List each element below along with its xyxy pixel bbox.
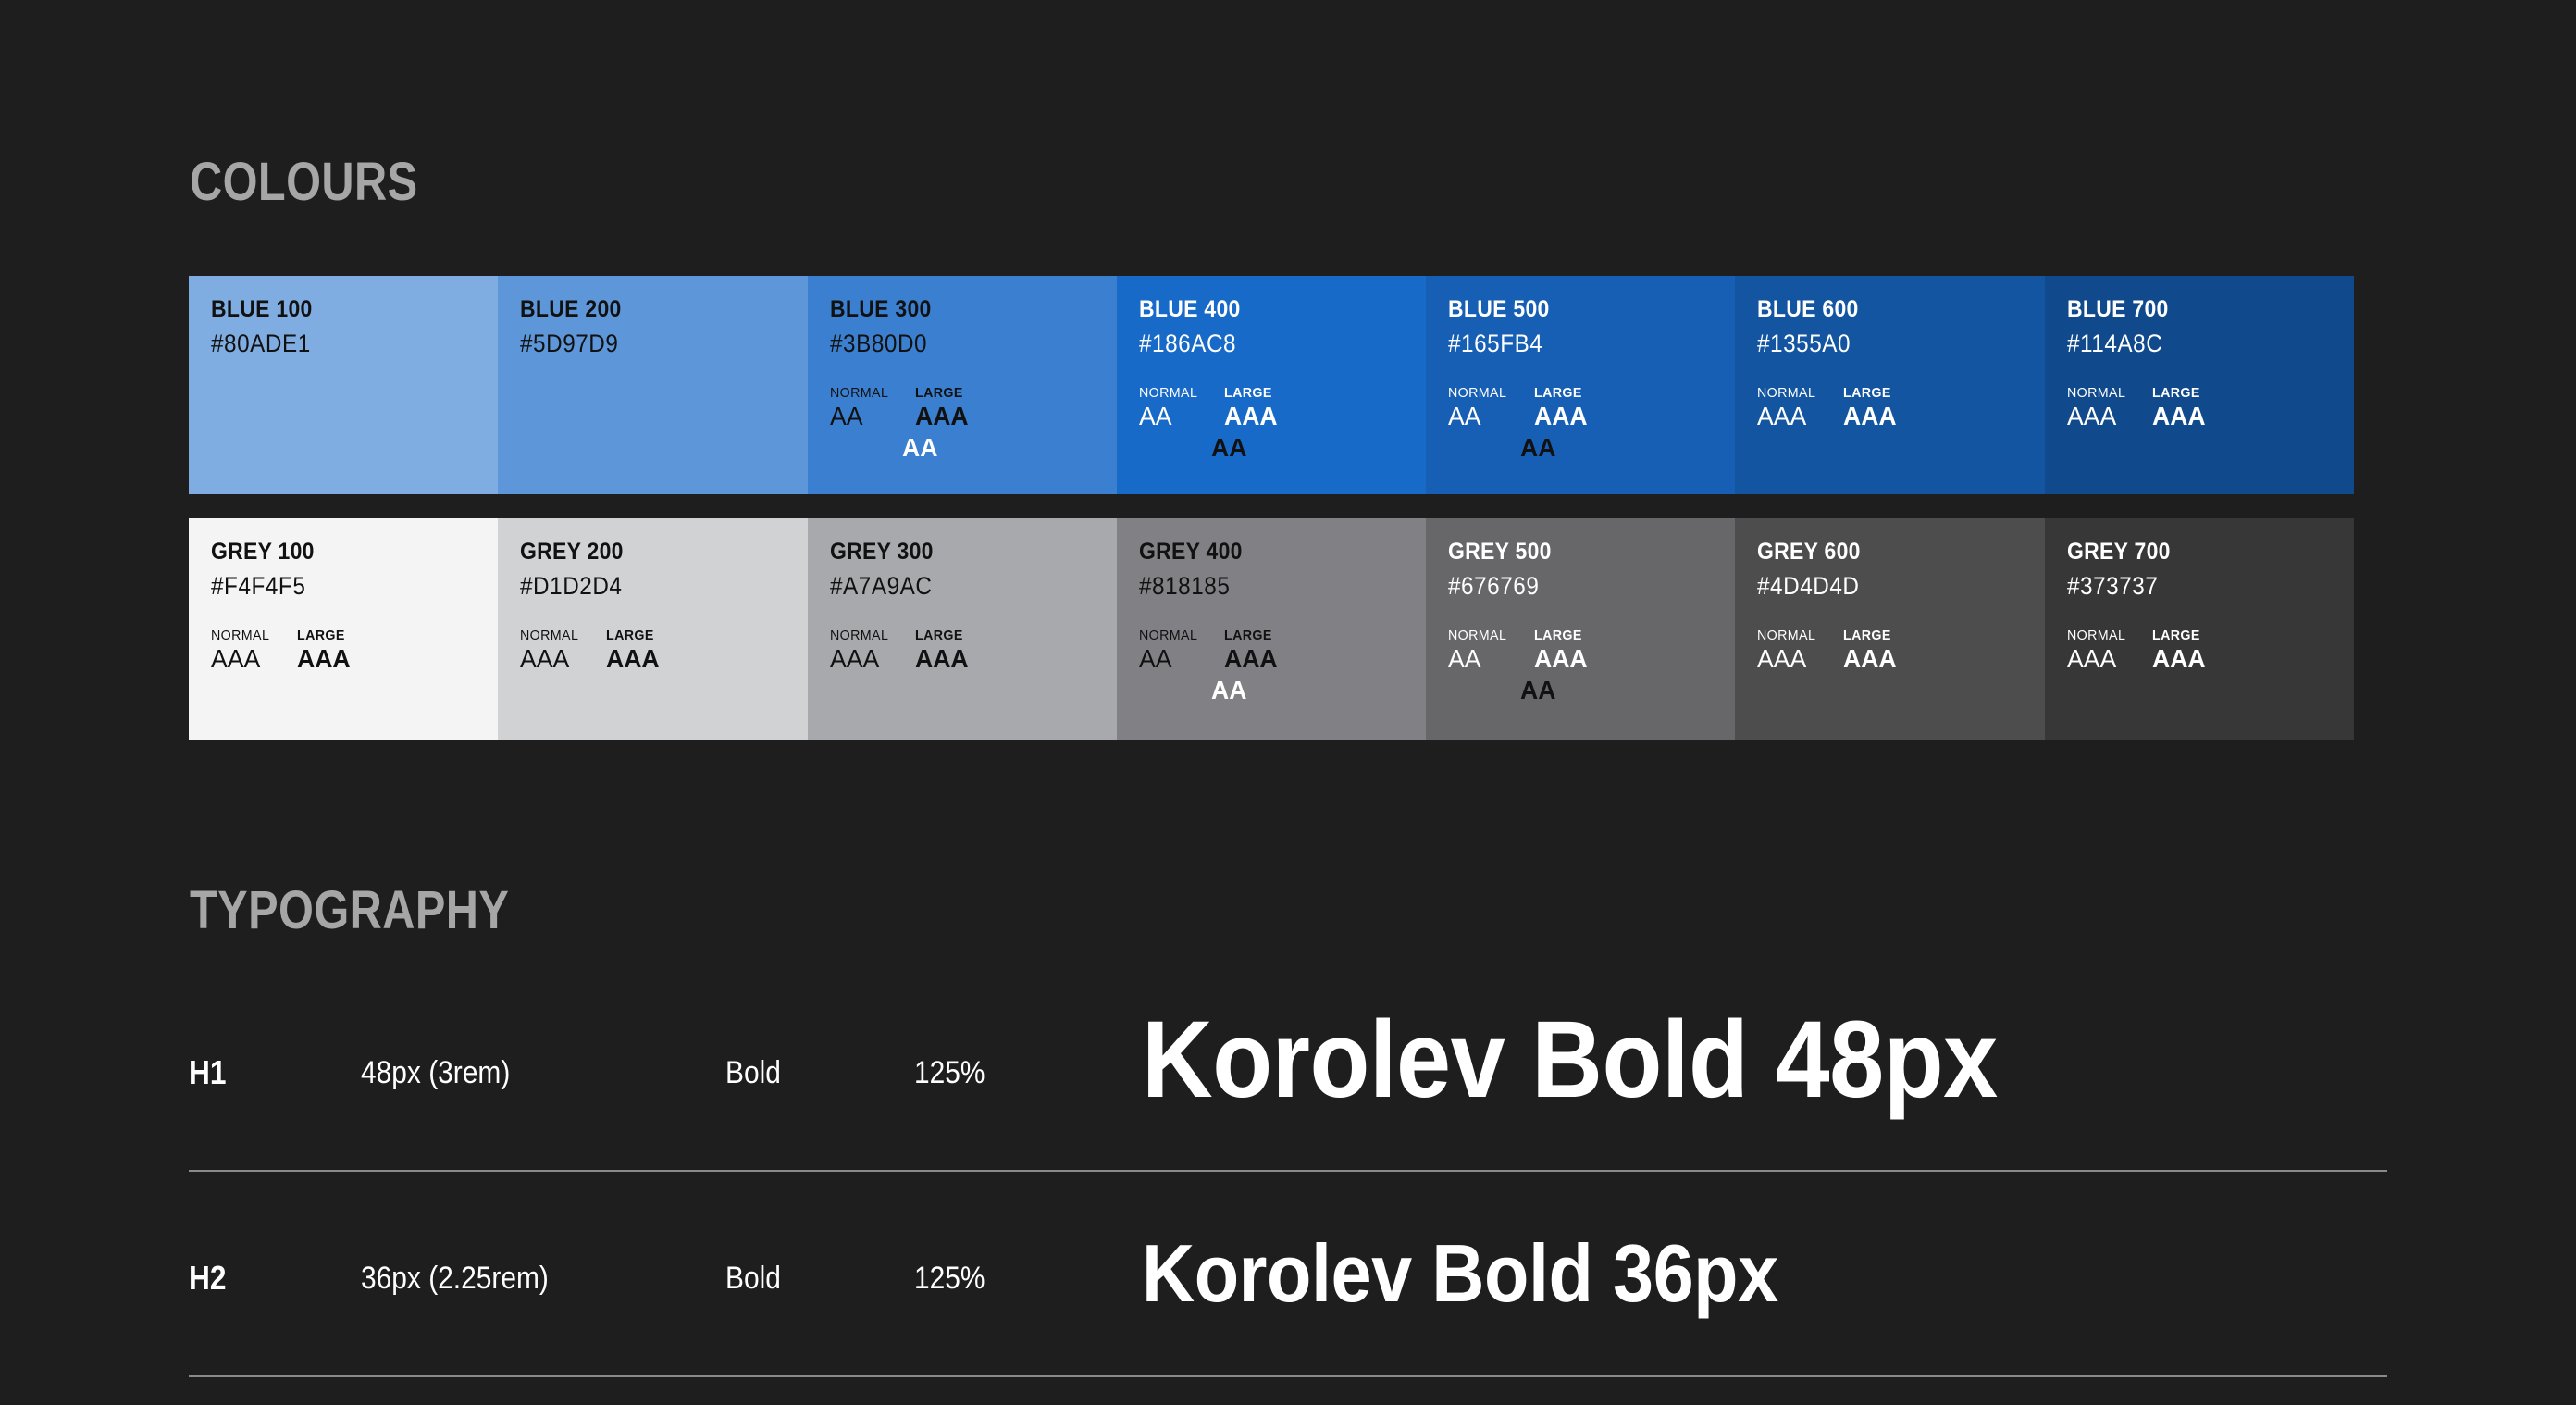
swatch-grey-600[interactable]: GREY 600 #4D4D4D NORMAL AAA LARGE AAA (1735, 518, 2044, 740)
table-row: H2 36px (2.25rem) Bold 125% Korolev Bold… (189, 1172, 2387, 1377)
contrast-large-column: LARGE AAA (1843, 385, 1900, 431)
type-line-height: 125% (914, 1261, 985, 1296)
swatch-name: GREY 400 (1139, 539, 1382, 565)
typography-section-heading: TYPOGRAPHY (190, 884, 509, 938)
contrast-block: NORMAL AAA LARGE AAA (1757, 385, 2029, 433)
table-row: H3 30px (1.875rem) Bold 125% Korolev Bol… (189, 1377, 2387, 1405)
swatch-hex: #114A8C (2067, 328, 2306, 359)
swatch-blue-400[interactable]: BLUE 400 #186AC8 NORMAL AA LARGE AAA AA (1117, 276, 1426, 494)
contrast-normal-value: AA (830, 402, 888, 431)
type-weight: Bold (725, 1055, 781, 1090)
contrast-block: NORMAL AA LARGE AAA AA (1139, 385, 1411, 463)
contrast-block: NORMAL AAA LARGE AAA (520, 628, 792, 676)
contrast-normal-column: NORMAL AAA (1757, 385, 1819, 431)
contrast-large-value: AAA (2152, 402, 2206, 431)
contrast-block: NORMAL AA LARGE AAA AA (1139, 628, 1411, 705)
colours-section-heading: COLOURS (190, 155, 418, 209)
contrast-normal-label: NORMAL (1448, 628, 1506, 644)
contrast-large-label: LARGE (1534, 385, 1588, 402)
contrast-normal-label: NORMAL (2067, 628, 2125, 644)
swatch-grey-300[interactable]: GREY 300 #A7A9AC NORMAL AAA LARGE AAA (808, 518, 1117, 740)
swatch-hex: #4D4D4D (1757, 570, 1996, 602)
typography-table: H1 48px (3rem) Bold 125% Korolev Bold 48… (189, 966, 2387, 1405)
contrast-large-value: AAA (1843, 644, 1897, 674)
contrast-normal-label: NORMAL (1139, 628, 1197, 644)
contrast-normal-label: NORMAL (1757, 628, 1815, 644)
contrast-large-value: AAA (915, 402, 969, 431)
contrast-large-label: LARGE (297, 628, 351, 644)
type-tag: H1 (189, 1055, 227, 1090)
contrast-large-column: LARGE AAA (606, 628, 663, 674)
table-row: H1 48px (3rem) Bold 125% Korolev Bold 48… (189, 966, 2387, 1172)
swatch-hex: #F4F4F5 (211, 570, 450, 602)
contrast-normal-column: NORMAL AAA (2067, 628, 2129, 674)
contrast-large-label: LARGE (2152, 385, 2206, 402)
swatch-hex: #5D97D9 (520, 328, 759, 359)
swatch-name: BLUE 300 (830, 296, 1073, 322)
swatch-name: BLUE 100 (211, 296, 454, 322)
type-weight: Bold (725, 1261, 781, 1296)
contrast-normal-label: NORMAL (830, 628, 888, 644)
contrast-large-column: LARGE AAA (1224, 628, 1281, 674)
contrast-large-column: LARGE AAA (2152, 628, 2209, 674)
contrast-extra-value: AA (902, 433, 1092, 463)
grey-swatch-row: GREY 100 #F4F4F5 NORMAL AAA LARGE AAA GR… (189, 518, 2354, 740)
swatch-name: BLUE 500 (1448, 296, 1691, 322)
swatch-blue-600[interactable]: BLUE 600 #1355A0 NORMAL AAA LARGE AAA (1735, 276, 2044, 494)
contrast-normal-column: NORMAL AA (1448, 628, 1510, 674)
swatch-hex: #3B80D0 (830, 328, 1069, 359)
type-tag: H2 (189, 1261, 227, 1296)
contrast-large-label: LARGE (1843, 628, 1897, 644)
type-sample: Korolev Bold 36px (1142, 1233, 1778, 1314)
swatch-blue-700[interactable]: BLUE 700 #114A8C NORMAL AAA LARGE AAA (2045, 276, 2354, 494)
contrast-normal-column: NORMAL AAA (520, 628, 582, 674)
contrast-normal-column: NORMAL AA (1139, 385, 1201, 431)
swatch-hex: #A7A9AC (830, 570, 1069, 602)
swatch-hex: #1355A0 (1757, 328, 1996, 359)
contrast-large-column: LARGE AAA (1534, 385, 1591, 431)
contrast-normal-column: NORMAL AAA (830, 628, 892, 674)
contrast-extra-value: AA (1211, 676, 1401, 705)
contrast-normal-value: AAA (2067, 644, 2125, 674)
contrast-large-value: AAA (1843, 402, 1897, 431)
contrast-extra-value: AA (1520, 433, 1710, 463)
contrast-normal-column: NORMAL AA (830, 385, 892, 431)
blue-swatch-row: BLUE 100 #80ADE1 BLUE 200 #5D97D9 BLUE 3… (189, 276, 2354, 494)
swatch-hex: #80ADE1 (211, 328, 450, 359)
swatch-name: GREY 600 (1757, 539, 2000, 565)
contrast-normal-value: AAA (1757, 644, 1815, 674)
type-line-height: 125% (914, 1055, 985, 1090)
swatch-blue-100[interactable]: BLUE 100 #80ADE1 (189, 276, 498, 494)
contrast-large-value: AAA (1534, 402, 1588, 431)
contrast-large-column: LARGE AAA (297, 628, 353, 674)
contrast-block: NORMAL AAA LARGE AAA (1757, 628, 2029, 676)
swatch-name: BLUE 600 (1757, 296, 2000, 322)
contrast-block: NORMAL AA LARGE AAA AA (830, 385, 1102, 463)
contrast-large-column: LARGE AAA (1843, 628, 1900, 674)
contrast-normal-value: AA (1139, 644, 1197, 674)
contrast-large-value: AAA (606, 644, 660, 674)
contrast-large-label: LARGE (2152, 628, 2206, 644)
contrast-normal-column: NORMAL AAA (1757, 628, 1819, 674)
contrast-normal-column: NORMAL AA (1139, 628, 1201, 674)
contrast-normal-column: NORMAL AA (1448, 385, 1510, 431)
style-guide-page: COLOURS BLUE 100 #80ADE1 BLUE 200 #5D97D… (0, 0, 2576, 1405)
swatch-name: GREY 200 (520, 539, 763, 565)
contrast-normal-value: AA (1448, 644, 1506, 674)
swatch-hex: #186AC8 (1139, 328, 1378, 359)
swatch-blue-200[interactable]: BLUE 200 #5D97D9 (498, 276, 807, 494)
contrast-block: NORMAL AAA LARGE AAA (211, 628, 483, 676)
contrast-large-column: LARGE AAA (915, 628, 972, 674)
swatch-hex: #818185 (1139, 570, 1378, 602)
contrast-large-label: LARGE (1224, 628, 1278, 644)
swatch-blue-500[interactable]: BLUE 500 #165FB4 NORMAL AA LARGE AAA AA (1426, 276, 1735, 494)
contrast-large-column: LARGE AAA (1224, 385, 1281, 431)
contrast-normal-column: NORMAL AAA (211, 628, 273, 674)
contrast-normal-value: AAA (830, 644, 888, 674)
contrast-large-column: LARGE AAA (915, 385, 972, 431)
swatch-grey-700[interactable]: GREY 700 #373737 NORMAL AAA LARGE AAA (2045, 518, 2354, 740)
contrast-normal-label: NORMAL (1139, 385, 1197, 402)
contrast-large-column: LARGE AAA (2152, 385, 2209, 431)
swatch-hex: #165FB4 (1448, 328, 1687, 359)
swatch-name: GREY 700 (2067, 539, 2310, 565)
swatch-name: BLUE 700 (2067, 296, 2310, 322)
type-size: 48px (3rem) (361, 1055, 510, 1090)
contrast-block: NORMAL AAA LARGE AAA (830, 628, 1102, 676)
contrast-normal-label: NORMAL (830, 385, 888, 402)
swatch-grey-100[interactable]: GREY 100 #F4F4F5 NORMAL AAA LARGE AAA (189, 518, 498, 740)
swatch-name: GREY 100 (211, 539, 454, 565)
contrast-large-value: AAA (2152, 644, 2206, 674)
contrast-block: NORMAL AAA LARGE AAA (2067, 385, 2339, 433)
contrast-normal-label: NORMAL (520, 628, 578, 644)
contrast-normal-value: AA (1448, 402, 1506, 431)
contrast-block: NORMAL AA LARGE AAA AA (1448, 385, 1720, 463)
type-sample: Korolev Bold 48px (1142, 1005, 1998, 1114)
contrast-normal-value: AAA (520, 644, 578, 674)
swatch-name: GREY 300 (830, 539, 1073, 565)
swatch-name: BLUE 400 (1139, 296, 1382, 322)
contrast-normal-value: AA (1139, 402, 1197, 431)
contrast-large-value: AAA (1534, 644, 1588, 674)
swatch-name: BLUE 200 (520, 296, 763, 322)
contrast-large-label: LARGE (915, 385, 969, 402)
contrast-large-value: AAA (915, 644, 969, 674)
contrast-large-label: LARGE (915, 628, 969, 644)
contrast-large-column: LARGE AAA (1534, 628, 1591, 674)
swatch-hex: #D1D2D4 (520, 570, 759, 602)
contrast-normal-label: NORMAL (2067, 385, 2125, 402)
swatch-grey-200[interactable]: GREY 200 #D1D2D4 NORMAL AAA LARGE AAA (498, 518, 807, 740)
contrast-extra-value: AA (1520, 676, 1710, 705)
contrast-large-label: LARGE (1843, 385, 1897, 402)
swatch-name: GREY 500 (1448, 539, 1691, 565)
contrast-large-label: LARGE (1224, 385, 1278, 402)
contrast-block: NORMAL AAA LARGE AAA (2067, 628, 2339, 676)
contrast-large-value: AAA (1224, 402, 1278, 431)
contrast-block: NORMAL AA LARGE AAA AA (1448, 628, 1720, 705)
contrast-large-label: LARGE (606, 628, 660, 644)
contrast-large-value: AAA (297, 644, 351, 674)
contrast-normal-value: AAA (1757, 402, 1815, 431)
contrast-normal-label: NORMAL (1448, 385, 1506, 402)
contrast-normal-label: NORMAL (1757, 385, 1815, 402)
swatch-grey-400[interactable]: GREY 400 #818185 NORMAL AA LARGE AAA AA (1117, 518, 1426, 740)
swatch-hex: #373737 (2067, 570, 2306, 602)
swatch-blue-300[interactable]: BLUE 300 #3B80D0 NORMAL AA LARGE AAA AA (808, 276, 1117, 494)
contrast-extra-value: AA (1211, 433, 1401, 463)
swatch-hex: #676769 (1448, 570, 1687, 602)
contrast-normal-column: NORMAL AAA (2067, 385, 2129, 431)
contrast-large-value: AAA (1224, 644, 1278, 674)
contrast-normal-label: NORMAL (211, 628, 269, 644)
swatch-grey-500[interactable]: GREY 500 #676769 NORMAL AA LARGE AAA AA (1426, 518, 1735, 740)
contrast-normal-value: AAA (211, 644, 269, 674)
type-size: 36px (2.25rem) (361, 1261, 549, 1296)
contrast-normal-value: AAA (2067, 402, 2125, 431)
contrast-large-label: LARGE (1534, 628, 1588, 644)
